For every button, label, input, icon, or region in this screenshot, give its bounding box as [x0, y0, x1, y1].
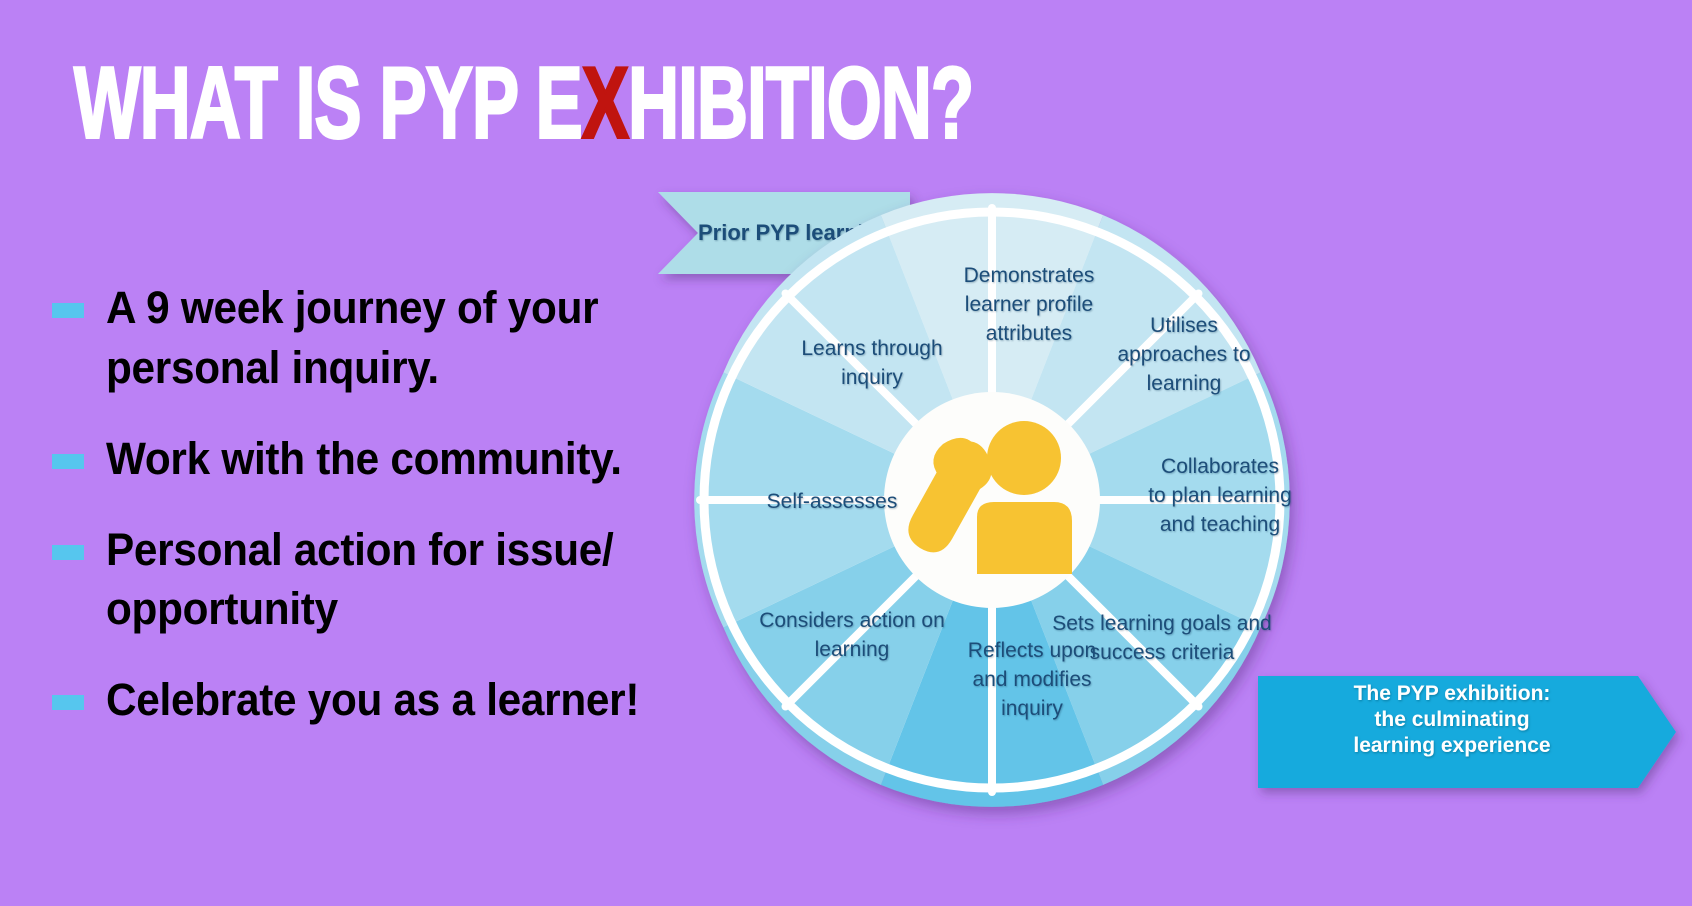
svg-text:Utilises: Utilises [1150, 314, 1218, 337]
bullet-text: Celebrate you as a learner! [106, 670, 639, 730]
bullet-marker-icon [52, 695, 84, 710]
svg-text:Self-assesses: Self-assesses [767, 490, 898, 513]
svg-text:attributes: attributes [986, 322, 1072, 345]
page-title-highlight-x: X [582, 47, 628, 160]
pyp-exhibition-line2: the culminating [1374, 708, 1529, 731]
svg-text:to plan learning: to plan learning [1148, 484, 1292, 507]
svg-text:Considers action on: Considers action on [759, 609, 945, 632]
svg-text:approaches to: approaches to [1117, 343, 1250, 366]
svg-text:learner profile: learner profile [965, 293, 1093, 316]
wheel-center-disc [884, 392, 1100, 608]
svg-text:learning: learning [815, 638, 890, 661]
list-item: Personal action for issue/ opportunity [52, 520, 752, 640]
svg-text:inquiry: inquiry [1001, 697, 1063, 720]
svg-text:Learns through: Learns through [801, 337, 942, 360]
bullet-list: A 9 week journey of your personal inquir… [52, 278, 752, 761]
pyp-exhibition-line1: The PYP exhibition: [1354, 682, 1551, 705]
svg-text:learning: learning [1147, 372, 1222, 395]
bullet-text: Work with the community. [106, 429, 622, 489]
list-item: Work with the community. [52, 429, 752, 489]
wheel-label-collaborates: Collaborates to plan learning and teachi… [1148, 455, 1292, 536]
page-title-part2: HIBITION? [628, 47, 973, 160]
svg-text:inquiry: inquiry [841, 366, 903, 389]
svg-text:and modifies: and modifies [972, 668, 1091, 691]
pyp-learner-agency-wheel: Prior PYP learning [652, 170, 1692, 830]
page-title: WHAT IS PYP EXHIBITION? [74, 56, 973, 152]
svg-text:Sets learning goals and: Sets learning goals and [1052, 612, 1272, 635]
bullet-text: Personal action for issue/ opportunity [106, 520, 708, 640]
list-item: Celebrate you as a learner! [52, 670, 752, 730]
pyp-exhibition-line3: learning experience [1353, 734, 1550, 757]
list-item: A 9 week journey of your personal inquir… [52, 278, 752, 398]
wheel-label-self-assesses: Self-assesses [767, 490, 898, 513]
svg-text:and teaching: and teaching [1160, 513, 1280, 536]
svg-text:Collaborates: Collaborates [1161, 455, 1279, 478]
bullet-marker-icon [52, 545, 84, 560]
svg-text:Reflects upon: Reflects upon [968, 639, 1096, 662]
bullet-marker-icon [52, 303, 84, 318]
svg-text:Demonstrates: Demonstrates [964, 264, 1095, 287]
page-title-part1: WHAT IS PYP E [74, 47, 582, 160]
bullet-marker-icon [52, 454, 84, 469]
svg-text:success criteria: success criteria [1090, 641, 1235, 664]
bullet-text: A 9 week journey of your personal inquir… [106, 278, 708, 398]
